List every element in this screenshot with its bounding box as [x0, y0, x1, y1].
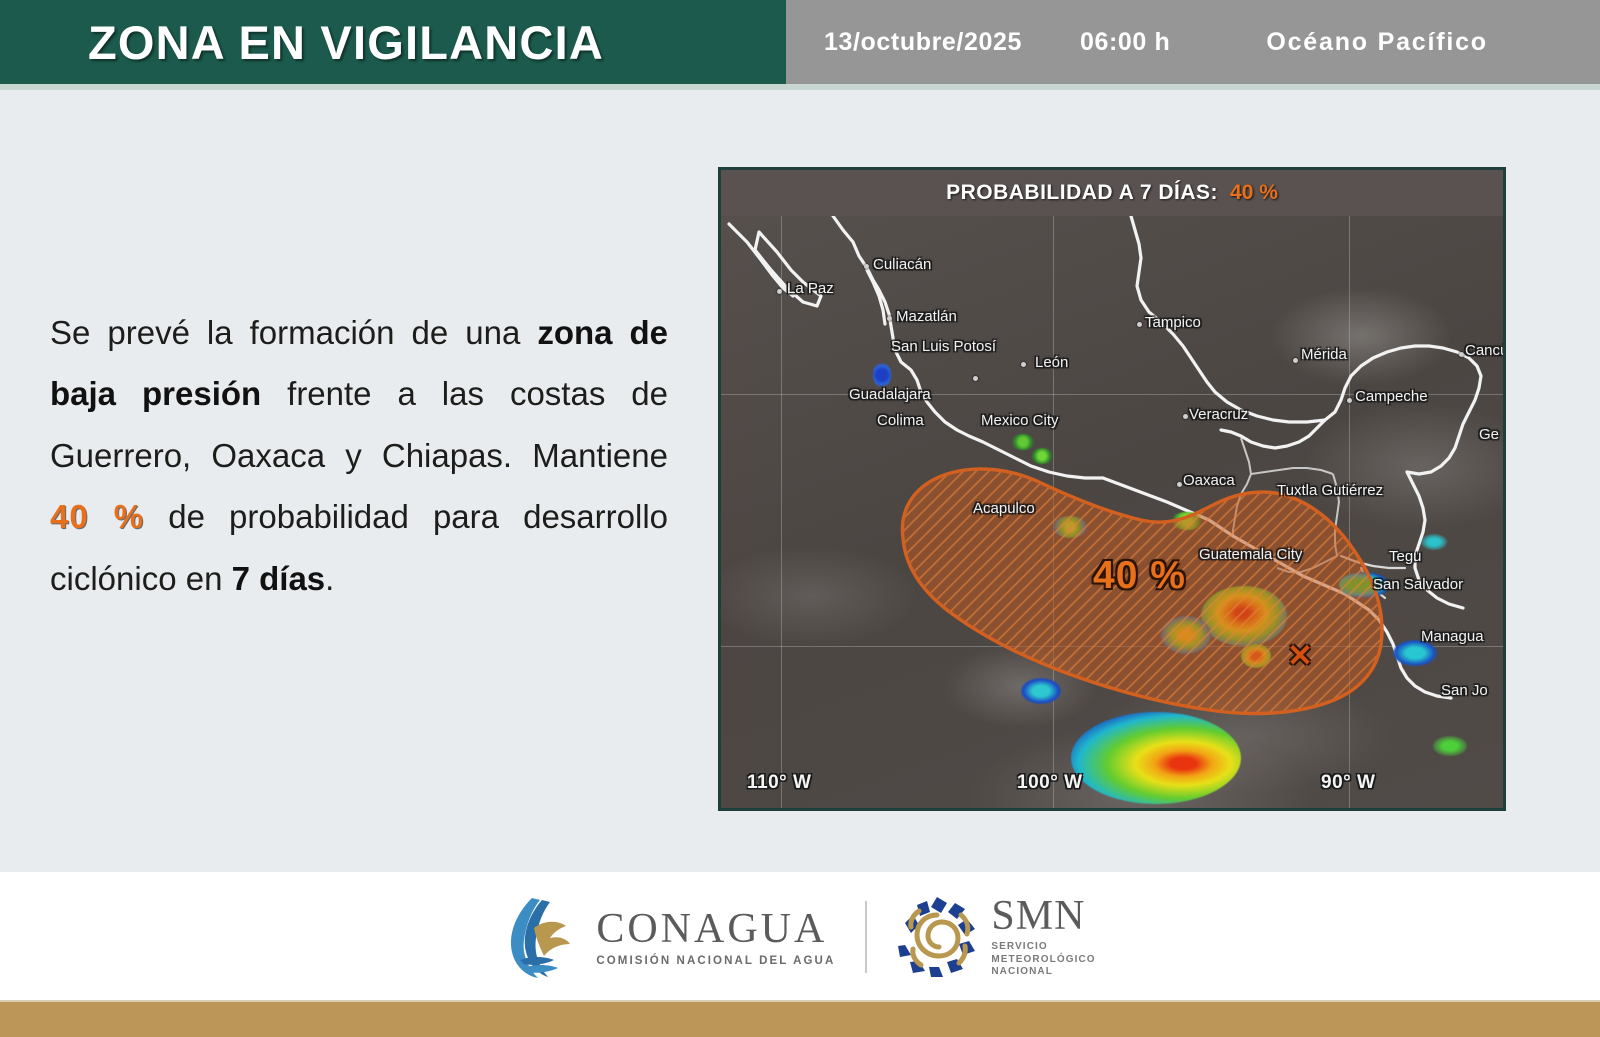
smn-logo: SMN SERVICIO METEOROLÓGICO NACIONAL	[897, 895, 1095, 979]
map-banner-value: 40 %	[1230, 181, 1278, 205]
city-dot	[777, 289, 782, 294]
header-title-band: ZONA EN VIGILANCIA	[0, 0, 786, 84]
conagua-wordmark: CONAGUA COMISIÓN NACIONAL DEL AGUA	[596, 908, 835, 967]
city-dot	[1183, 414, 1188, 419]
smn-subtitle: SERVICIO METEOROLÓGICO NACIONAL	[991, 941, 1095, 979]
conagua-subtitle: COMISIÓN NACIONAL DEL AGUA	[596, 955, 835, 967]
smn-subtitle-line-2: METEOROLÓGICO	[991, 954, 1095, 967]
city-dot	[973, 376, 978, 381]
longitude-label-110w: 110° W	[747, 772, 811, 794]
city-dot	[1177, 482, 1182, 487]
page-header: ZONA EN VIGILANCIA 13/octubre/2025 06:00…	[0, 0, 1600, 84]
city-dot	[887, 316, 892, 321]
forecast-summary-text: Se prevé la formación de una zona de baj…	[50, 302, 668, 609]
summary-bold-seven-days: 7 días	[232, 560, 326, 597]
page-footer: CONAGUA COMISIÓN NACIONAL DEL AGUA	[0, 872, 1600, 1002]
header-basin: Océano Pacífico	[1266, 28, 1488, 57]
summary-part-1: Se prevé la formación de una	[50, 314, 537, 351]
city-dot	[1137, 322, 1142, 327]
logo-divider	[865, 901, 867, 973]
city-dot	[1021, 362, 1026, 367]
footer-accent-bar	[0, 1002, 1600, 1037]
longitude-label-90w: 90° W	[1321, 772, 1375, 794]
smn-subtitle-line-1: SERVICIO	[991, 941, 1095, 954]
city-dot	[1347, 398, 1352, 403]
satellite-map[interactable]: PROBABILIDAD A 7 DÍAS: 40 %	[718, 167, 1506, 811]
smn-wordmark: SMN SERVICIO METEOROLÓGICO NACIONAL	[991, 895, 1095, 979]
watch-zone-polygon	[721, 216, 1503, 811]
city-dot	[1293, 358, 1298, 363]
header-time: 06:00 h	[1080, 28, 1170, 57]
page-title: ZONA EN VIGILANCIA	[88, 15, 604, 70]
map-banner-label: PROBABILIDAD A 7 DÍAS:	[946, 181, 1218, 205]
longitude-label-100w: 100° W	[1017, 772, 1083, 794]
zone-probability-label: 40 %	[1093, 554, 1186, 598]
city-dot	[864, 264, 869, 269]
summary-probability-highlight: 40 %	[50, 498, 144, 535]
header-date: 13/octubre/2025	[824, 28, 1022, 57]
smn-name: SMN	[991, 895, 1095, 937]
map-probability-banner: PROBABILIDAD A 7 DÍAS: 40 %	[721, 170, 1503, 216]
satellite-imagery: Culiacán La Paz Mazatlán San Luis Potosí…	[721, 216, 1503, 811]
header-meta-band: 13/octubre/2025 06:00 h Océano Pacífico	[786, 0, 1600, 84]
agency-logos: CONAGUA COMISIÓN NACIONAL DEL AGUA	[504, 894, 1095, 980]
city-dot	[1459, 352, 1464, 357]
disturbance-x-marker: ✕	[1287, 640, 1313, 671]
conagua-logo: CONAGUA COMISIÓN NACIONAL DEL AGUA	[504, 894, 835, 980]
smn-subtitle-line-3: NACIONAL	[991, 966, 1095, 979]
conagua-water-eagle-icon	[504, 894, 582, 980]
main-content: Se prevé la formación de una zona de baj…	[0, 90, 1600, 872]
smn-spiral-icon	[897, 895, 977, 979]
conagua-name: CONAGUA	[596, 908, 835, 950]
summary-part-4: .	[325, 560, 334, 597]
